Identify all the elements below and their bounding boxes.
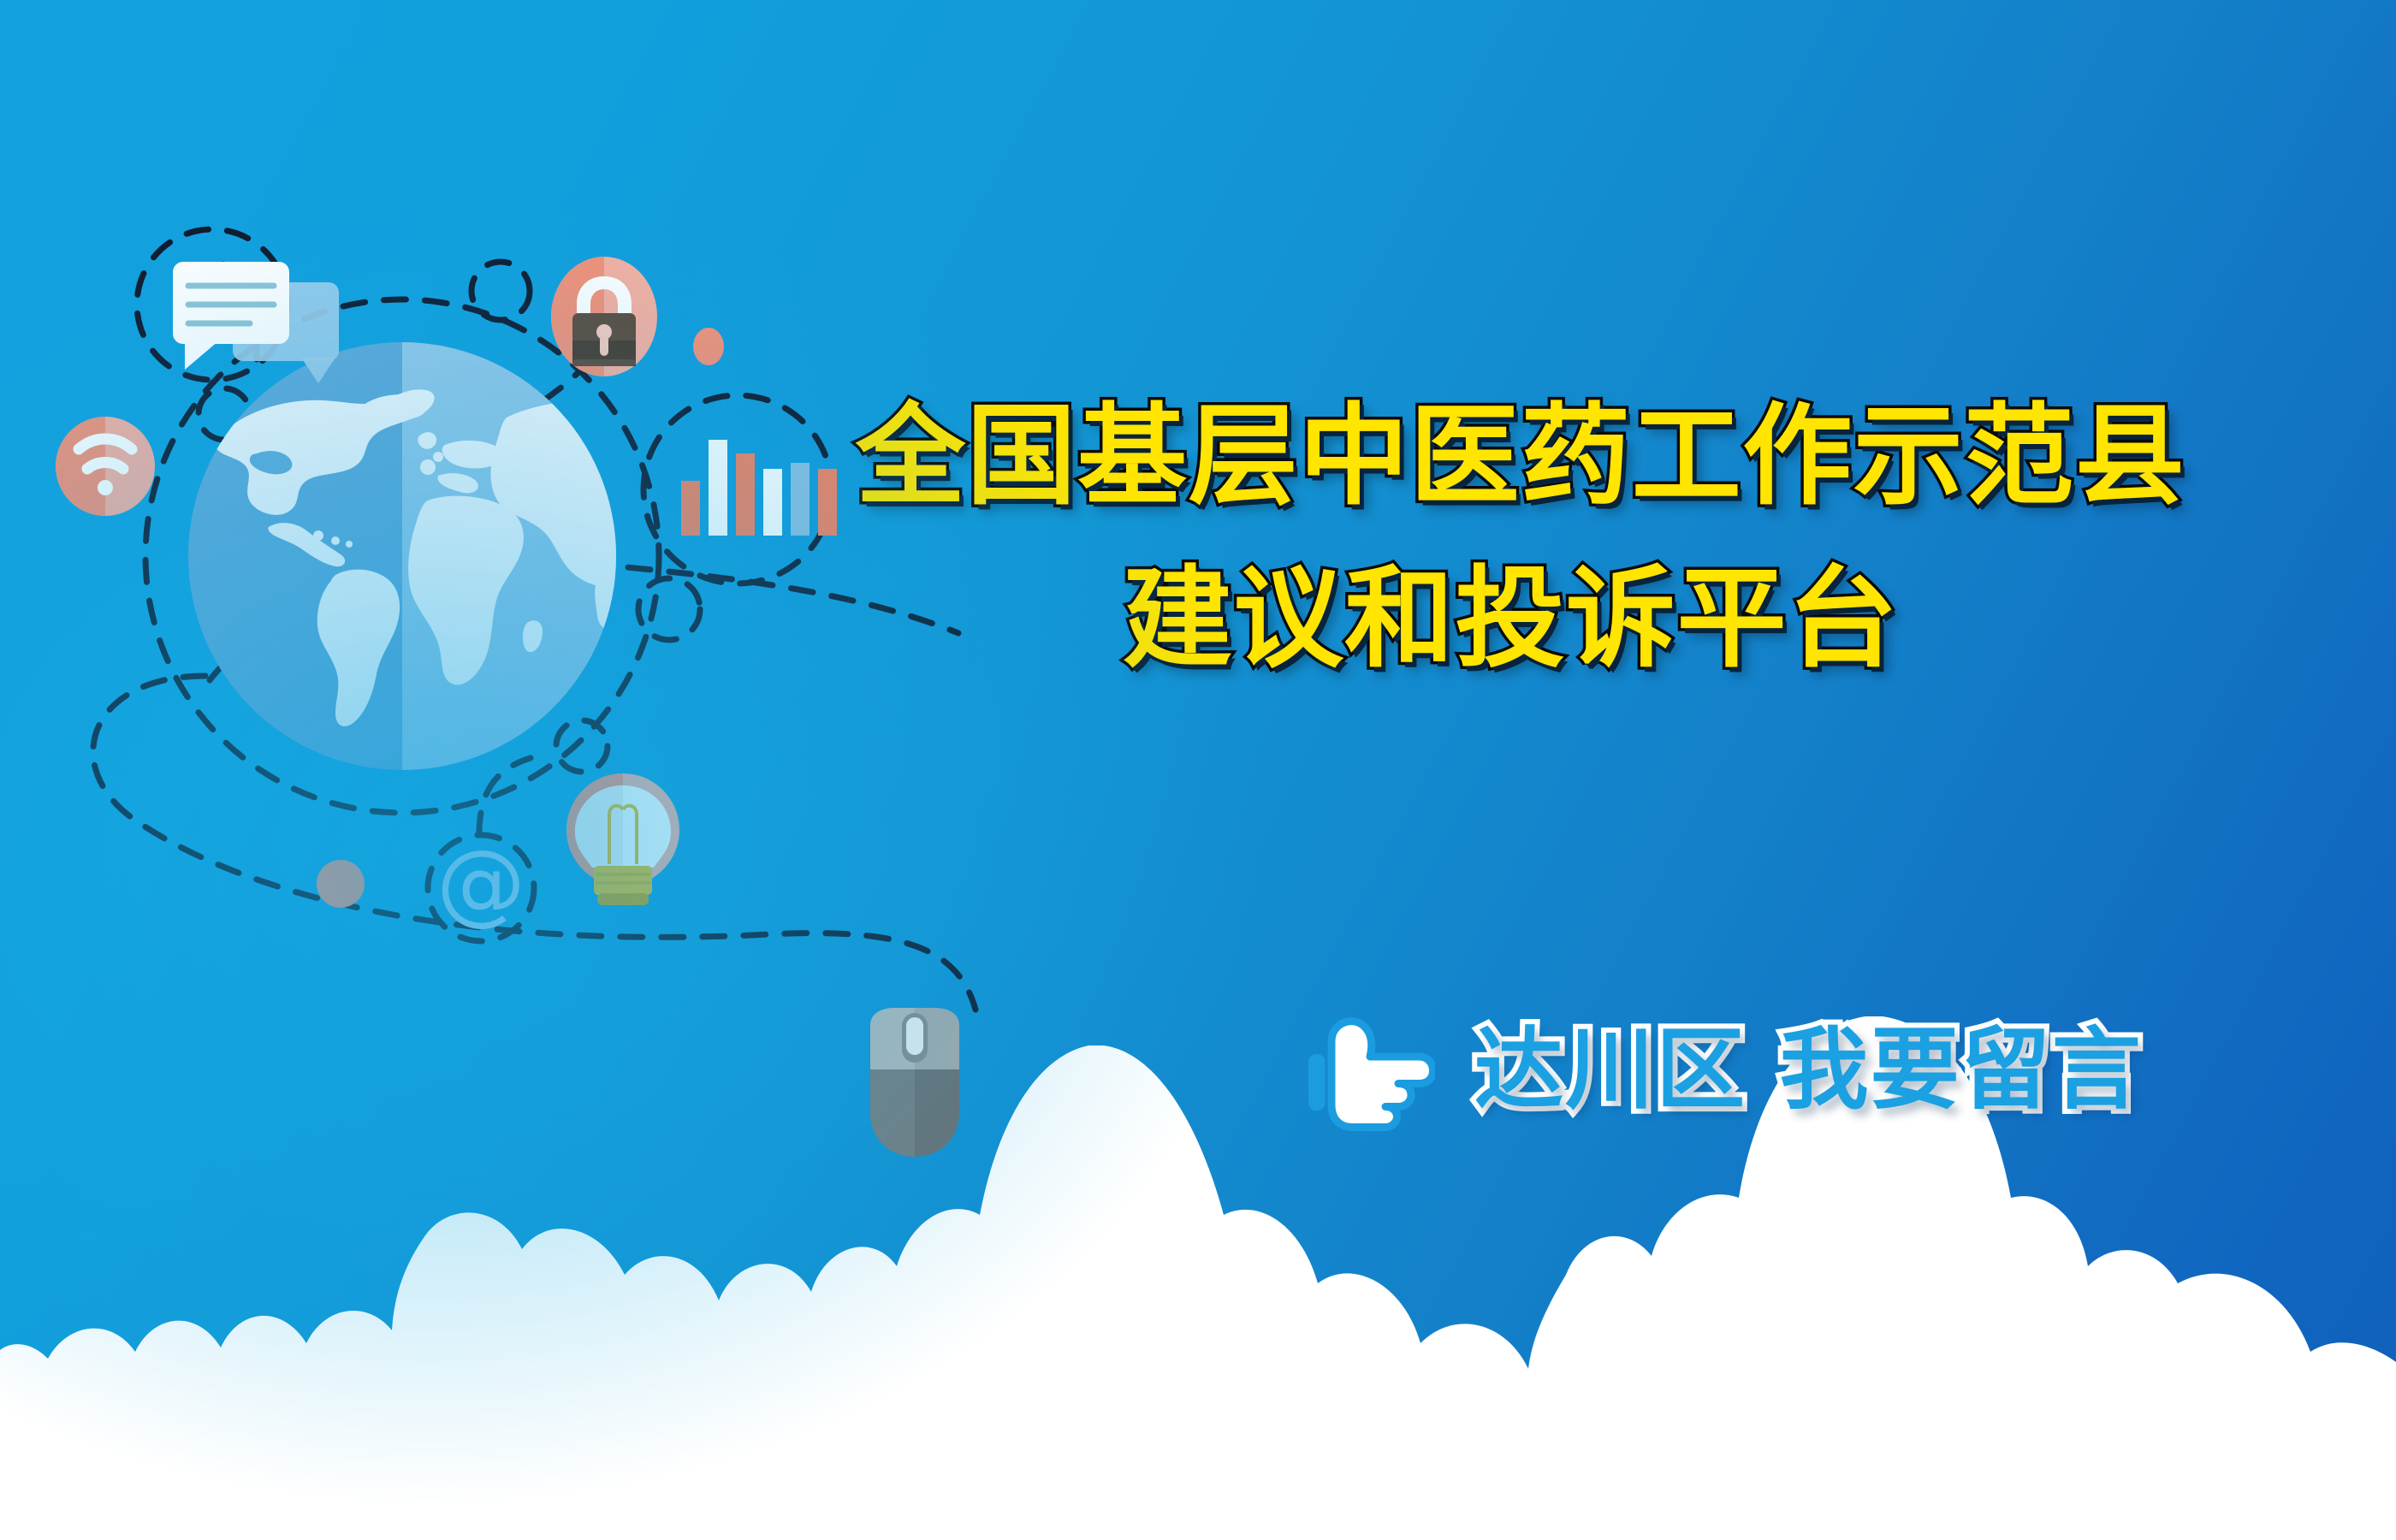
pointing-hand-icon xyxy=(1305,1005,1435,1134)
chat-bubbles-icon xyxy=(173,262,339,383)
hero-title-block: 全国基层中医药工作示范县 建议和投诉平台 xyxy=(856,402,2345,674)
dashed-circle-small-4 xyxy=(556,720,608,772)
hero-title-line-2: 建议和投诉平台 xyxy=(1123,565,2345,674)
illustration-layer: @ xyxy=(0,0,2396,1540)
lock-icon xyxy=(551,257,657,376)
hero-title-line-1: 全国基层中医药工作示范县 xyxy=(856,402,2345,512)
wifi-icon xyxy=(56,417,155,516)
coral-dot-bottom xyxy=(317,860,365,908)
at-sign-icon: @ xyxy=(436,831,525,935)
dashed-circle-small-3 xyxy=(638,578,700,640)
bar-chart-icon xyxy=(681,440,837,536)
computer-mouse-icon xyxy=(870,1008,959,1157)
cta-leave-message[interactable]: 达川区 我要留言 xyxy=(1305,1005,2143,1134)
lightbulb-icon xyxy=(566,773,679,905)
promo-banner: @ 全国基层中医药工作示范县 建议和投诉平台 达川区 xyxy=(0,0,2396,1540)
dashed-link-at xyxy=(479,758,531,835)
cta-label: 达川区 我要留言 xyxy=(1474,1025,2143,1114)
svg-text:@: @ xyxy=(436,831,525,935)
dashed-swoosh-lower xyxy=(93,676,976,1010)
coral-dot-top xyxy=(693,328,724,365)
